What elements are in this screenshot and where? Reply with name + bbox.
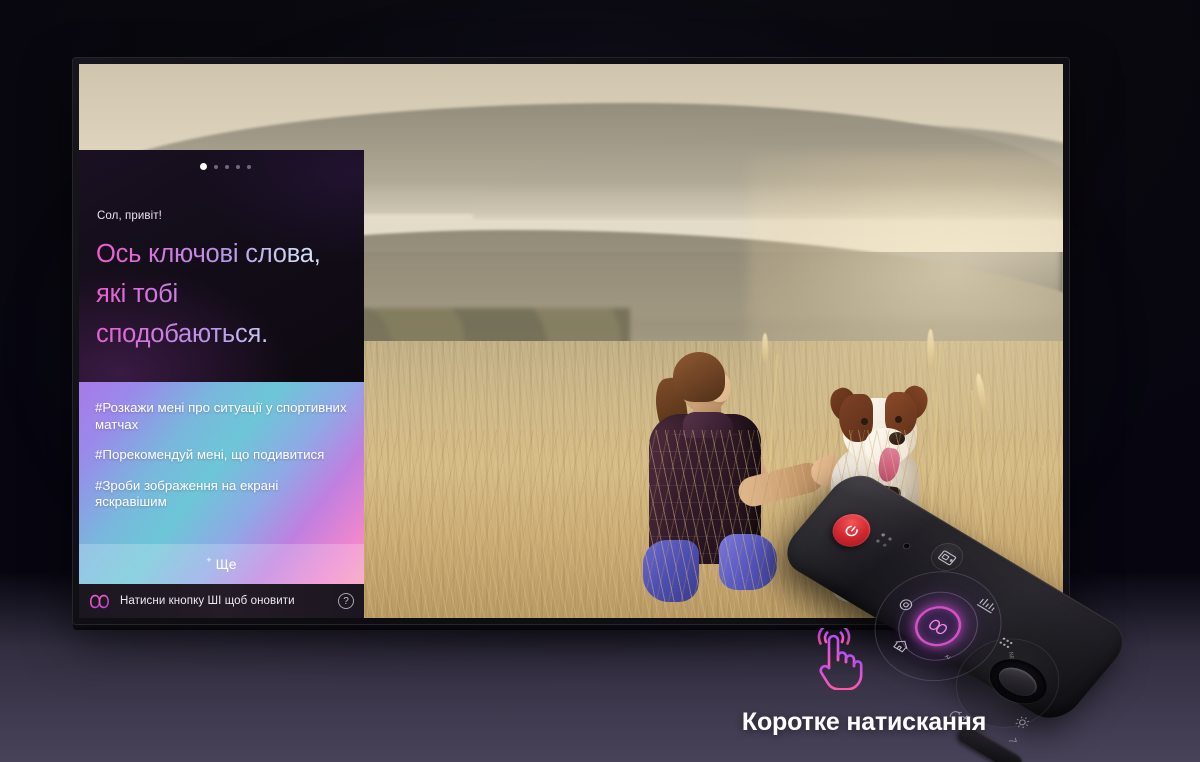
tv-frame: Сол, привіт! Ось ключові слова, які тобі…: [73, 58, 1069, 624]
page-dot-2[interactable]: [214, 165, 218, 169]
footer-hint-text: Натисни кнопку ШІ щоб оновити: [120, 595, 328, 607]
page-indicator[interactable]: [200, 163, 251, 170]
greeting-text: Сол, привіт!: [97, 210, 162, 222]
suggestion-chip[interactable]: #Зроби зображення на екрані яскравішим: [95, 478, 348, 511]
ai-assistant-panel: Сол, привіт! Ось ключові слова, які тобі…: [79, 150, 364, 618]
panel-headline: Ось ключові слова, які тобі сподобаються…: [96, 234, 358, 354]
ai-suggestion-area: #Розкажи мені про ситуації у спортивних …: [79, 382, 364, 584]
tv-screen: Сол, привіт! Ось ключові слова, які тобі…: [79, 64, 1063, 618]
tap-hand-icon: [798, 628, 874, 690]
page-dot-5[interactable]: [247, 165, 251, 169]
suggestion-list: #Розкажи мені про ситуації у спортивних …: [79, 382, 364, 511]
photo-grass-stalk-head: [762, 333, 768, 363]
more-button-label: Ще: [216, 556, 237, 572]
more-suggestions-button[interactable]: + Ще: [79, 544, 364, 584]
ai-panel-header: Сол, привіт! Ось ключові слова, які тобі…: [79, 150, 364, 382]
page-dot-1[interactable]: [200, 163, 207, 170]
plus-icon: +: [206, 555, 211, 565]
suggestion-chip[interactable]: #Порекомендуй мені, що подивитися: [95, 447, 348, 464]
suggestion-chip[interactable]: #Розкажи мені про ситуації у спортивних …: [95, 400, 348, 433]
page-dot-3[interactable]: [225, 165, 229, 169]
question-mark-icon[interactable]: ?: [338, 593, 354, 609]
ai-panel-footer: Натисни кнопку ШІ щоб оновити ?: [79, 584, 364, 618]
ai-infinity-logo-icon: [89, 592, 110, 611]
page-dot-4[interactable]: [236, 165, 240, 169]
callout-caption: Коротке натискання: [704, 708, 1024, 737]
woman-hair: [673, 352, 725, 402]
